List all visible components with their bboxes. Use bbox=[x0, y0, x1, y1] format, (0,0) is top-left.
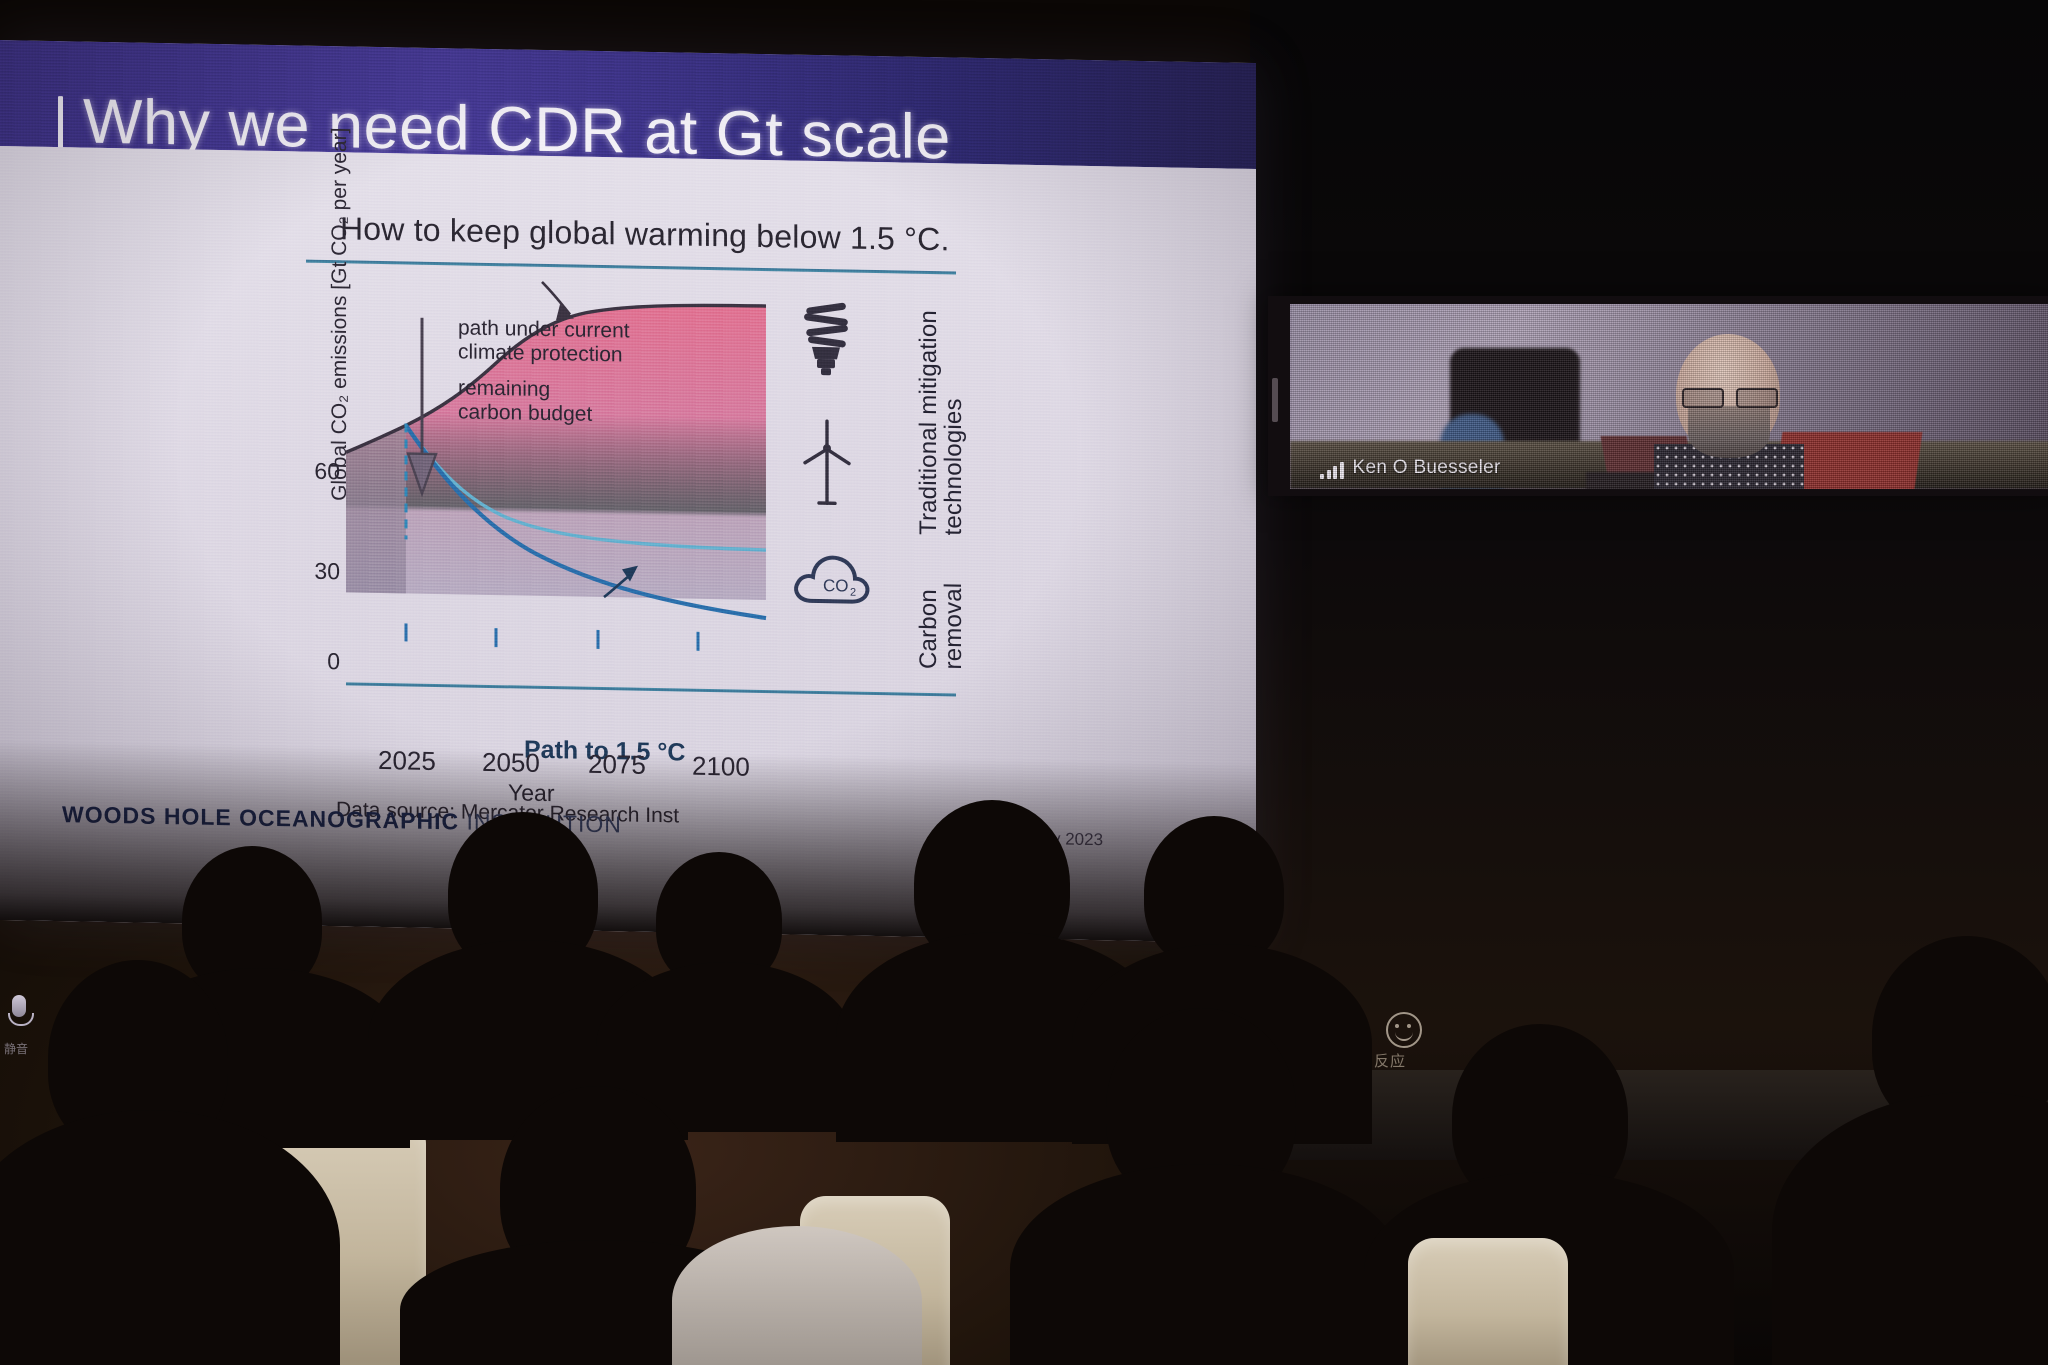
screen-share-label: 共享屏幕 bbox=[1022, 1048, 1098, 1073]
video-drag-handle[interactable] bbox=[1272, 378, 1278, 422]
microphone-icon[interactable] bbox=[8, 995, 30, 1029]
y-tick-0: 0 bbox=[294, 647, 340, 675]
svg-text:CO: CO bbox=[823, 576, 848, 595]
plot-area: path under currentclimate protection rem… bbox=[346, 292, 766, 690]
x-axis-ticks bbox=[406, 623, 698, 650]
x-tick-2100: 2100 bbox=[692, 751, 750, 783]
carbon-budget-arrow bbox=[408, 317, 436, 494]
video-name-bar: Ken O Buesseler bbox=[1320, 457, 1501, 479]
speaker-beard bbox=[1688, 406, 1770, 458]
footer-logo-thin: INSTITUTION bbox=[467, 809, 622, 838]
emoji-reaction-label: 反应 bbox=[1374, 1050, 1406, 1071]
cfl-bulb-icon bbox=[798, 301, 854, 378]
chart-top-rule bbox=[306, 260, 956, 275]
title-accent-bar bbox=[58, 96, 63, 152]
legend-label-carbon-removal: Carbonremoval bbox=[916, 582, 967, 670]
room-floor-shadow bbox=[1260, 1070, 2048, 1160]
emoji-reaction-icon[interactable] bbox=[1386, 1012, 1422, 1048]
legend-label-traditional-mitigation: Traditional mitigationtechnologies bbox=[916, 310, 967, 536]
chart-legend: CO 2 Traditional mitigationtechnologies … bbox=[776, 280, 976, 704]
projection-screen: Why we need CDR at Gt scale How to keep … bbox=[0, 40, 1256, 943]
screen-share-icon[interactable] bbox=[1026, 1013, 1064, 1043]
microphone-label: 静音 bbox=[4, 1040, 28, 1057]
annotation-remaining-budget: remainingcarbon budget bbox=[458, 376, 592, 425]
y-tick-30: 30 bbox=[294, 557, 340, 585]
co2-cloud-icon: CO 2 bbox=[790, 546, 872, 610]
video-participant-tile[interactable]: Ken O Buesseler bbox=[1268, 296, 2048, 496]
chart-title: How to keep global warming below 1.5 °C. bbox=[340, 210, 950, 258]
current-path-arrow bbox=[542, 282, 574, 321]
slide-surface: Why we need CDR at Gt scale How to keep … bbox=[0, 40, 1256, 943]
annotation-current-protection: path under currentclimate protection bbox=[458, 316, 630, 366]
signal-bars-icon bbox=[1320, 461, 1344, 479]
globe-icon[interactable] bbox=[1152, 1010, 1190, 1048]
video-speaker-figure bbox=[1590, 332, 1930, 489]
video-frame: Ken O Buesseler bbox=[1290, 304, 2048, 489]
x-tick-2025: 2025 bbox=[378, 745, 436, 777]
room-right-wall bbox=[1250, 0, 2048, 1365]
video-participant-name: Ken O Buesseler bbox=[1353, 457, 1501, 479]
y-tick-60: 60 bbox=[294, 457, 340, 485]
emissions-chart: Global CO₂ emissions [Gt CO₂ per year] 6… bbox=[236, 250, 976, 784]
svg-text:2: 2 bbox=[850, 587, 856, 599]
slide-body: How to keep global warming below 1.5 °C.… bbox=[0, 146, 1256, 943]
speaker-glasses bbox=[1682, 388, 1778, 404]
conference-room-scene: Why we need CDR at Gt scale How to keep … bbox=[0, 0, 2048, 1365]
footer-date: January 2023 bbox=[1000, 828, 1103, 850]
wind-turbine-icon bbox=[802, 419, 852, 506]
x-tick-2050: 2050 bbox=[482, 747, 540, 779]
x-tick-2075: 2075 bbox=[588, 749, 646, 781]
